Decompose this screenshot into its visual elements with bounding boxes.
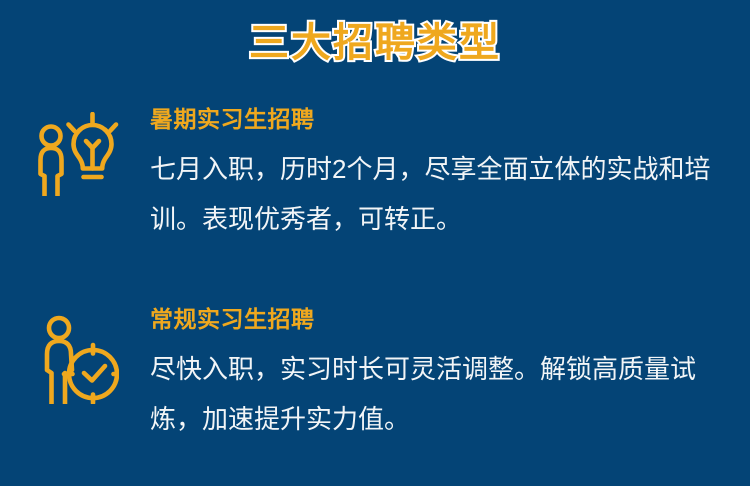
person-clock-icon <box>31 312 119 404</box>
section-body-text: 尽快入职，实习时长可灵活调整。解锁高质量试炼，加速提升实力值。 <box>150 344 722 444</box>
person-lightbulb-icon <box>31 112 119 196</box>
poster-title-container: 三大招聘类型 <box>0 18 750 68</box>
page-title: 三大招聘类型 <box>249 18 501 68</box>
section-body-text: 七月入职，历时2个月，尽享全面立体的实战和培训。表现优秀者，可转正。 <box>150 144 722 244</box>
section-heading: 暑期实习生招聘 <box>150 104 722 134</box>
section-icon-container <box>0 304 150 404</box>
section-text-container: 暑期实习生招聘 七月入职，历时2个月，尽享全面立体的实战和培训。表现优秀者，可转… <box>150 104 750 244</box>
section-text-container: 常规实习生招聘 尽快入职，实习时长可灵活调整。解锁高质量试炼，加速提升实力值。 <box>150 304 750 444</box>
recruitment-types-poster: 三大招聘类型 <box>0 0 750 486</box>
section-regular-internship: 常规实习生招聘 尽快入职，实习时长可灵活调整。解锁高质量试炼，加速提升实力值。 <box>0 304 750 444</box>
section-icon-container <box>0 104 150 196</box>
section-heading: 常规实习生招聘 <box>150 304 722 334</box>
section-summer-internship: 暑期实习生招聘 七月入职，历时2个月，尽享全面立体的实战和培训。表现优秀者，可转… <box>0 104 750 244</box>
